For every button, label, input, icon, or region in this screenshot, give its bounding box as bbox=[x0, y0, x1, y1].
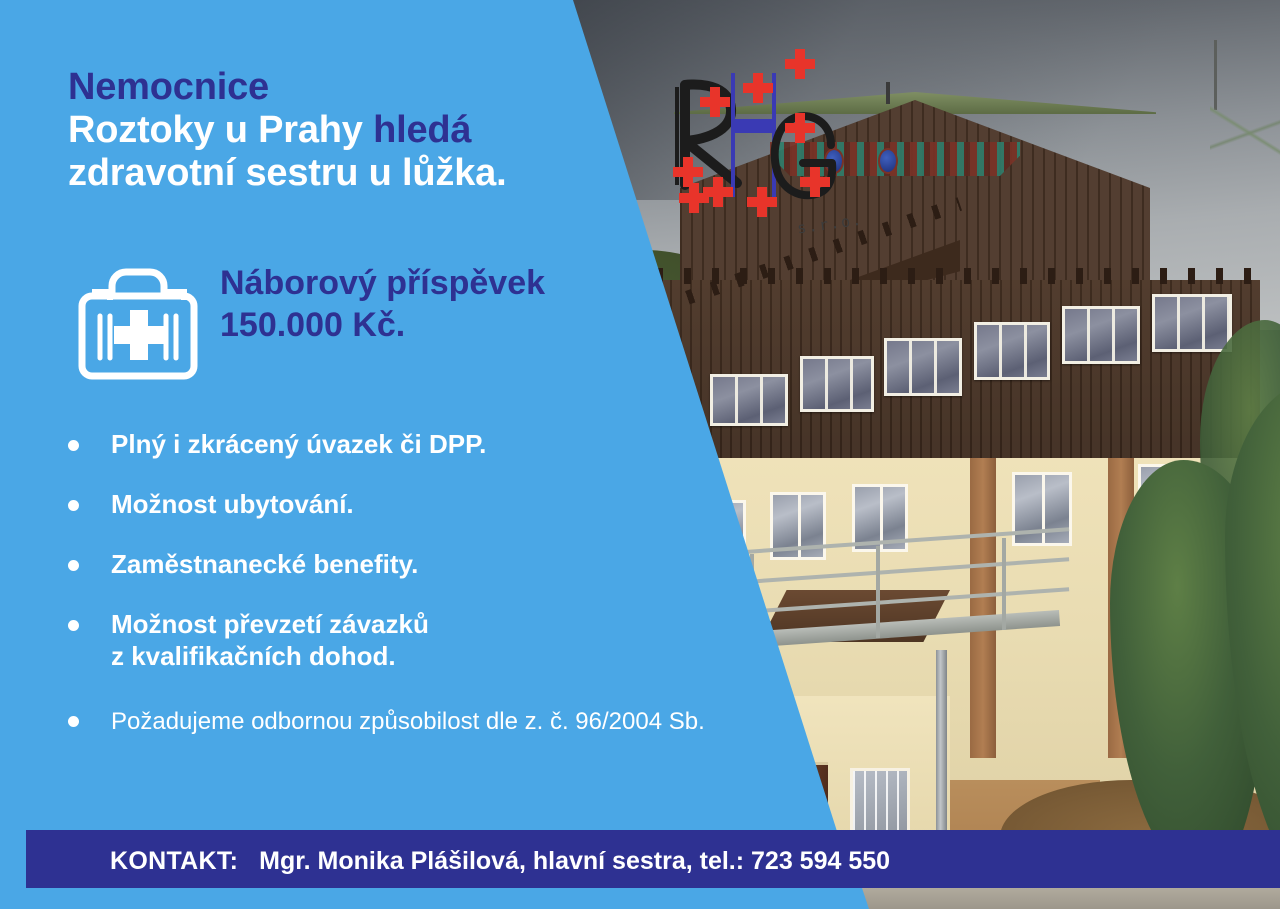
signing-bonus-text: Náborový příspěvek 150.000 Kč. bbox=[220, 262, 545, 346]
first-aid-kit-icon bbox=[68, 260, 208, 388]
bullet-dot-icon bbox=[68, 500, 79, 511]
list-item-label-second-line: z kvalifikačních dohod. bbox=[111, 640, 856, 672]
list-item: Možnost převzetí závazků z kvalifikačníc… bbox=[66, 608, 856, 672]
railing-post bbox=[1002, 538, 1006, 630]
gable-medallion bbox=[878, 148, 898, 174]
wall-pilaster bbox=[970, 458, 996, 758]
footer-blue-strip bbox=[0, 888, 900, 909]
headline-line-1: Nemocnice bbox=[68, 66, 506, 109]
contact-text: KONTAKT: Mgr. Monika Plášilová, hlavní s… bbox=[110, 847, 890, 876]
signing-bonus-block: Náborový příspěvek 150.000 Kč. bbox=[68, 258, 668, 388]
list-item: Zaměstnanecké benefity. bbox=[66, 548, 856, 580]
headline-line-2: Roztoky u Prahy hledá bbox=[68, 109, 506, 152]
facade-window bbox=[1012, 472, 1072, 546]
signing-bonus-line-2: 150.000 Kč. bbox=[220, 304, 545, 346]
attic-window bbox=[1152, 294, 1232, 352]
headline-line-2-accent: hledá bbox=[373, 109, 471, 151]
list-item-label: Plný i zkrácený úvazek či DPP. bbox=[111, 428, 856, 460]
benefits-list: Plný i zkrácený úvazek či DPP. Možnost u… bbox=[66, 428, 856, 766]
bullet-dot-icon bbox=[68, 560, 79, 571]
railing-post bbox=[876, 546, 880, 638]
list-item: Možnost ubytování. bbox=[66, 488, 856, 520]
contact-details: Mgr. Monika Plášilová, hlavní sestra, te… bbox=[259, 847, 890, 875]
headline: Nemocnice Roztoky u Prahy hledá zdravotn… bbox=[68, 66, 506, 195]
bullet-dot-icon bbox=[68, 620, 79, 631]
attic-window bbox=[884, 338, 962, 396]
roof-antenna bbox=[886, 82, 890, 104]
bullet-dot-icon bbox=[68, 440, 79, 451]
red-cross bbox=[743, 73, 773, 103]
rhg-logo: s.r.o. bbox=[645, 45, 875, 260]
list-item: Požadujeme odbornou způsobilost dle z. č… bbox=[66, 706, 856, 738]
list-item-label: Požadujeme odbornou způsobilost dle z. č… bbox=[111, 706, 856, 738]
attic-window bbox=[800, 356, 874, 412]
headline-line-3: zdravotní sestru u lůžka. bbox=[68, 152, 506, 195]
attic-window bbox=[974, 322, 1050, 380]
list-item-label: Možnost ubytování. bbox=[111, 488, 856, 520]
list-item: Plný i zkrácený úvazek či DPP. bbox=[66, 428, 856, 460]
list-item-label: Zaměstnanecké benefity. bbox=[111, 548, 856, 580]
contact-label: KONTAKT: bbox=[110, 847, 238, 875]
signing-bonus-line-1: Náborový příspěvek bbox=[220, 262, 545, 304]
headline-line-2-plain: Roztoky u Prahy bbox=[68, 109, 373, 151]
attic-window bbox=[1062, 306, 1140, 364]
bullet-dot-icon bbox=[68, 716, 79, 727]
recruitment-poster: s.r.o. Nemocnice Roztoky u Prahy hledá z… bbox=[0, 0, 1280, 909]
red-cross bbox=[785, 49, 815, 79]
list-item-label: Možnost převzetí závazků bbox=[111, 608, 856, 640]
attic-window bbox=[710, 374, 788, 426]
